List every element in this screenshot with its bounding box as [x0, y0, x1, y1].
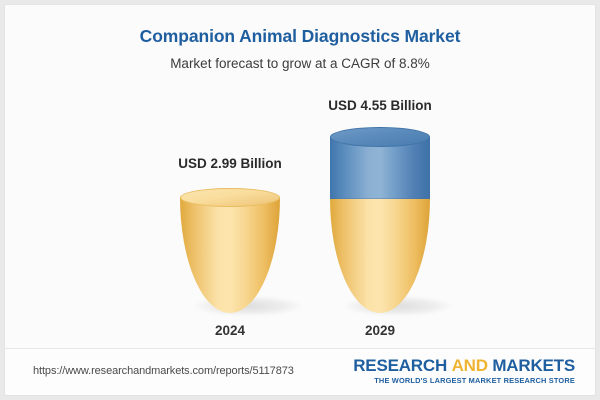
logo-word-markets: MARKETS: [492, 356, 575, 375]
infographic-card: Companion Animal Diagnostics Market Mark…: [4, 4, 596, 396]
bar-category-label-2029: 2029: [270, 323, 490, 338]
bar-body-2024: [180, 197, 280, 313]
research-and-markets-logo[interactable]: RESEARCH AND MARKETS THE WORLD'S LARGEST…: [353, 357, 575, 384]
bar-top-cap-2029: [330, 127, 430, 147]
bar-value-label-2029: USD 4.55 Billion: [270, 98, 490, 113]
bar-cylinder-2029[interactable]: [330, 127, 430, 313]
logo-wordmark: RESEARCH AND MARKETS: [353, 357, 575, 374]
report-url-link[interactable]: https://www.researchandmarkets.com/repor…: [33, 365, 294, 377]
logo-tagline: THE WORLD'S LARGEST MARKET RESEARCH STOR…: [353, 377, 575, 384]
bar-cylinder-2024[interactable]: [180, 188, 280, 313]
bar-segment-divider-2029: [330, 198, 430, 199]
logo-word-research: RESEARCH: [353, 356, 447, 375]
chart-plot-area: USD 2.99 Billion 2024 USD 4.55 Billion: [5, 5, 596, 350]
bar-bottom-cap-2024: [180, 197, 280, 313]
bar-group-2029: USD 4.55 Billion 2029: [270, 5, 490, 350]
logo-word-and: AND: [452, 356, 488, 375]
bar-bottom-cap-2029: [330, 198, 430, 313]
footer: https://www.researchandmarkets.com/repor…: [5, 349, 596, 395]
bar-segment-base-2029: [330, 198, 430, 313]
bar-top-cap-2024: [180, 188, 280, 207]
